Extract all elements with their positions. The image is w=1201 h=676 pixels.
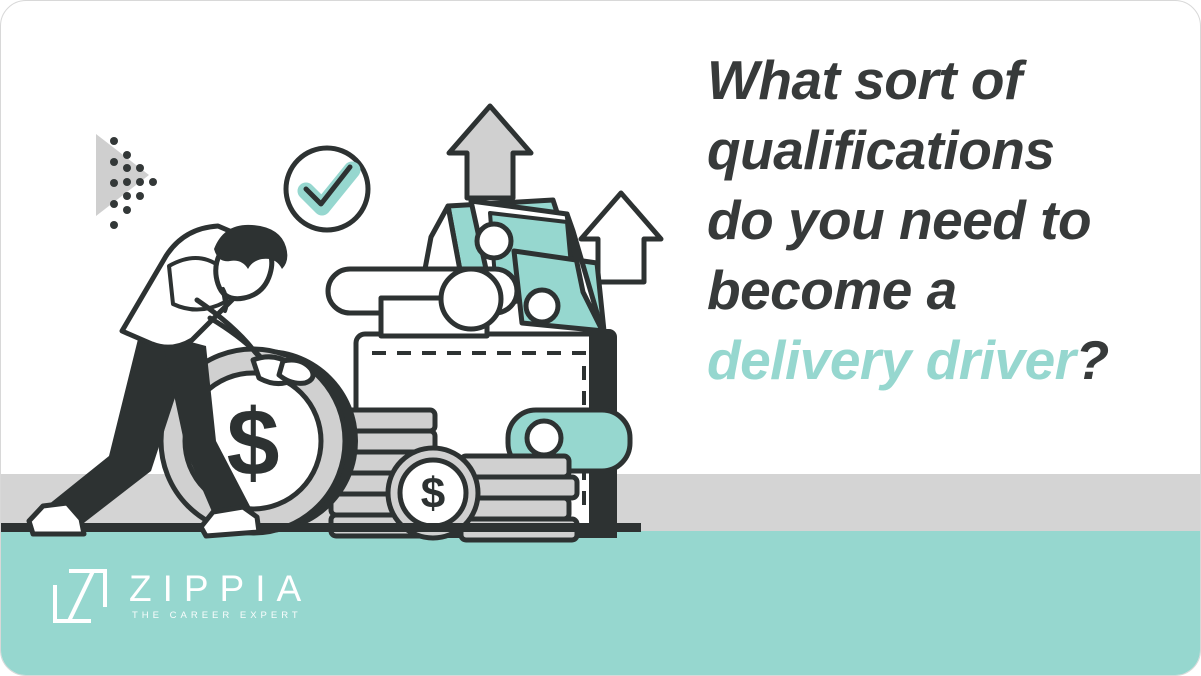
- headline-line-5: delivery driver?: [707, 325, 1167, 395]
- banknotes: [419, 200, 604, 331]
- wallet-lip: [328, 269, 517, 336]
- dotted-triangle-arrow: [96, 134, 157, 229]
- headline-line-2: qualifications: [707, 115, 1167, 185]
- headline-question-mark: ?: [1076, 329, 1109, 391]
- up-arrow-filled: [449, 106, 531, 198]
- headline-accent: delivery driver: [707, 329, 1076, 391]
- up-arrow-outline: [581, 193, 661, 282]
- logo-tagline: THE CAREER EXPERT: [129, 609, 312, 623]
- logo-wordmark: ZIPPIA: [129, 569, 312, 609]
- page-title: What sort of qualifications do you need …: [707, 45, 1167, 395]
- ground-band-gray: [1, 474, 1201, 531]
- check-circle-badge: [286, 148, 368, 230]
- headline-line-4: become a: [707, 255, 1167, 325]
- headline-line-3: do you need to: [707, 185, 1167, 255]
- logo-text-block: ZIPPIA THE CAREER EXPERT: [129, 569, 312, 623]
- zippia-logo[interactable]: ZIPPIA THE CAREER EXPERT: [53, 569, 312, 623]
- promo-card: .st { stroke:#2d3232; stroke-width:5; st…: [0, 0, 1201, 676]
- zippia-z-mark: [53, 569, 107, 623]
- headline-line-1: What sort of: [707, 45, 1167, 115]
